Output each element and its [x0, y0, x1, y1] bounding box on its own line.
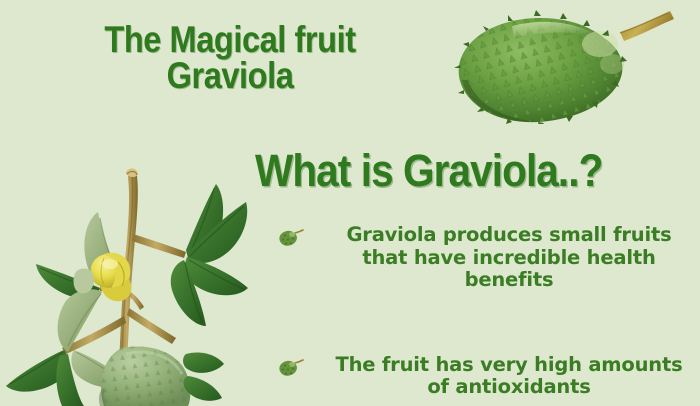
graviola-soursop-fruit-illustration [452, 2, 692, 124]
graviola-infographic-poster: The Magical fruit Graviola What is Gravi… [0, 0, 700, 406]
section-heading: What is Graviola..? [255, 148, 633, 193]
list-item: The fruit has very high amounts of antio… [278, 354, 696, 399]
title-line-2: Graviola [63, 58, 397, 94]
poster-title: The Magical fruit Graviola [63, 22, 397, 95]
bullet-list: Graviola produces small fruits that have… [278, 224, 696, 406]
graviola-fruit-on-branch [99, 346, 224, 406]
graviola-branch-leaves-flower-fruit-illustration [0, 158, 262, 406]
list-item-text: The fruit has very high amounts of antio… [278, 354, 696, 399]
list-item: Graviola produces small fruits that have… [278, 224, 696, 292]
list-item-text: Graviola produces small fruits that have… [278, 224, 696, 292]
title-line-1: The Magical fruit [63, 22, 397, 58]
